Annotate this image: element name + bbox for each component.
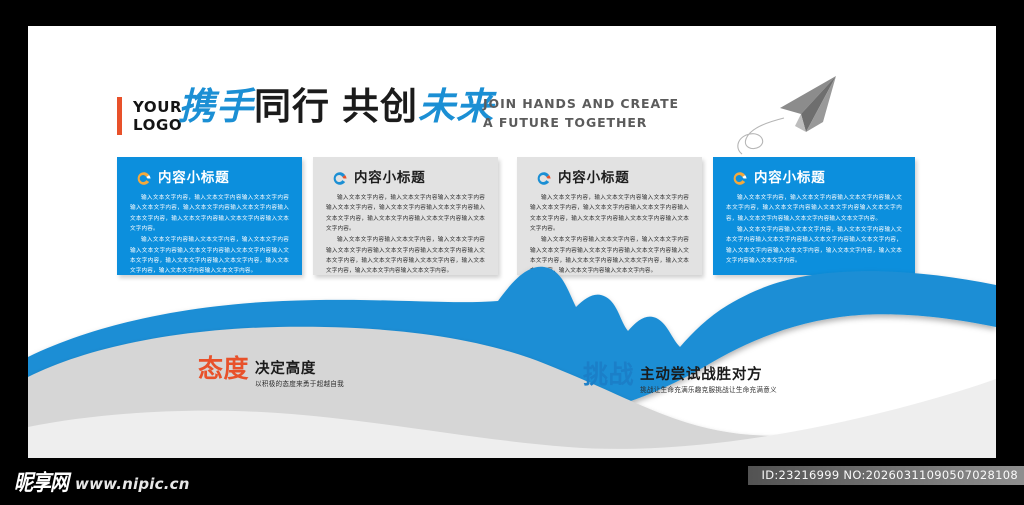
panel-4-title: 内容小标题 — [754, 172, 826, 186]
content-panel-1[interactable]: 内容小标题 输入文本文字内容，输入文本文字内容输入文本文字内容输入文本文字内容，… — [117, 157, 302, 275]
panel-2-para-1: 输入文本文字内容，输入文本文字内容输入文本文字内容输入文本文字内容，输入文本文字… — [326, 193, 485, 234]
panel-2-title: 内容小标题 — [354, 172, 426, 186]
panel-1-para-1: 输入文本文字内容，输入文本文字内容输入文本文字内容输入文本文字内容，输入文本文字… — [130, 193, 289, 234]
slogan-2-sub: 挑战让生命充满乐趣克服挑战让生命充满意义 — [640, 387, 777, 395]
panel-4-body: 输入文本文字内容，输入文本文字内容输入文本文字内容输入文本文字内容，输入文本文字… — [726, 193, 902, 266]
footer-watermark-bar: 昵享网 www.nipic.cn ID:23216999 NO:20260311… — [0, 458, 1024, 505]
content-panel-2[interactable]: 内容小标题 输入文本文字内容，输入文本文字内容输入文本文字内容输入文本文字内容，… — [313, 157, 498, 275]
panel-3-title: 内容小标题 — [558, 172, 630, 186]
logo-text: YOUR LOGO — [133, 98, 182, 135]
c-logo-icon — [536, 171, 551, 186]
poster-canvas: YOUR LOGO 携手 同行 共创 未来 JOIN HANDS AND CRE… — [0, 0, 1024, 505]
slogan-2-text: 主动尝试战胜对方 挑战让生命充满乐趣克服挑战让生命充满意义 — [640, 362, 777, 395]
logo-block: YOUR LOGO — [117, 97, 182, 135]
panel-1-title: 内容小标题 — [158, 172, 230, 186]
slogan-1-sub: 以积极的态度来勇于超越自我 — [255, 381, 344, 389]
panel-3-head: 内容小标题 — [530, 171, 689, 186]
slogan-1-main: 决定高度 — [255, 361, 316, 377]
watermark-site-logo: 昵享网 — [14, 466, 68, 497]
logo-accent-bar — [117, 97, 122, 135]
headline-part-1: 携手 — [178, 88, 254, 125]
slogan-2-keyword: 挑战 — [583, 362, 634, 387]
subtitle-line-2: A FUTURE TOGETHER — [483, 113, 679, 132]
watermark-left: 昵享网 www.nipic.cn — [14, 468, 190, 495]
subtitle-line-1: JOIN HANDS AND CREATE — [483, 94, 679, 113]
watermark-site-url: www.nipic.cn — [75, 475, 190, 493]
paper-plane-icon — [728, 68, 858, 158]
panel-3-para-1: 输入文本文字内容，输入文本文字内容输入文本文字内容输入文本文字内容，输入文本文字… — [530, 193, 689, 234]
headline-subtitle: JOIN HANDS AND CREATE A FUTURE TOGETHER — [483, 94, 679, 133]
c-logo-icon — [332, 171, 347, 186]
c-logo-icon — [136, 171, 151, 186]
slogan-challenge: 挑战 主动尝试战胜对方 挑战让生命充满乐趣克服挑战让生命充满意义 — [583, 362, 777, 395]
slogan-2-main: 主动尝试战胜对方 — [640, 367, 762, 383]
panel-2-head: 内容小标题 — [326, 171, 485, 186]
artboard: YOUR LOGO 携手 同行 共创 未来 JOIN HANDS AND CRE… — [28, 26, 996, 458]
logo-line-2: LOGO — [133, 116, 182, 134]
headline-part-3: 共创 — [342, 88, 418, 125]
paper-plane-graphic — [728, 68, 858, 158]
slogan-attitude: 态度 决定高度 以积极的态度来勇于超越自我 — [198, 356, 344, 389]
headline-part-2: 同行 — [254, 88, 330, 125]
wave-svg — [28, 261, 996, 458]
header: YOUR LOGO 携手 同行 共创 未来 JOIN HANDS AND CRE… — [28, 26, 996, 146]
image-id-label: ID:23216999 NO:20260311090507028108 — [748, 466, 1024, 485]
content-panel-3[interactable]: 内容小标题 输入文本文字内容，输入文本文字内容输入文本文字内容输入文本文字内容，… — [517, 157, 702, 275]
panel-4-head: 内容小标题 — [726, 171, 902, 186]
c-logo-icon — [732, 171, 747, 186]
panel-4-para-1: 输入文本文字内容，输入文本文字内容输入文本文字内容输入文本文字内容，输入文本文字… — [726, 193, 902, 224]
slogan-1-keyword: 态度 — [198, 356, 249, 381]
logo-line-1: YOUR — [133, 98, 182, 116]
wave-decoration — [28, 261, 996, 458]
content-panel-4[interactable]: 内容小标题 输入文本文字内容，输入文本文字内容输入文本文字内容输入文本文字内容，… — [713, 157, 915, 275]
headline: 携手 同行 共创 未来 — [178, 88, 494, 125]
slogan-1-text: 决定高度 以积极的态度来勇于超越自我 — [255, 356, 344, 389]
panel-1-head: 内容小标题 — [130, 171, 289, 186]
